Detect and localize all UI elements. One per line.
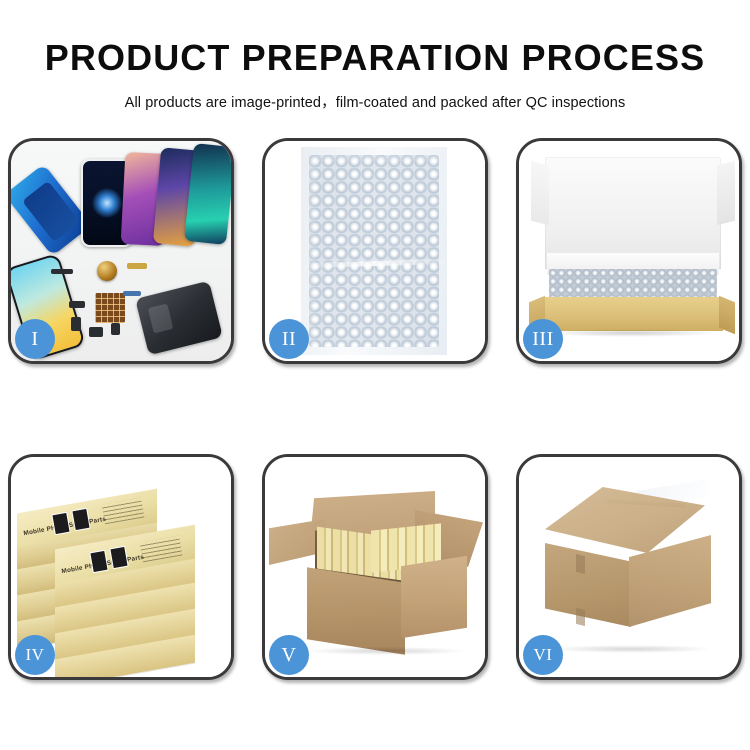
product-preparation-page: PRODUCT PREPARATION PROCESS All products… <box>0 0 750 750</box>
process-step-panel-5[interactable]: V <box>262 454 488 680</box>
retail-box-stack-photo: Mobile Phone Spare Parts Mobile Phone Sp… <box>11 457 231 677</box>
carton-seam-icon <box>576 554 585 574</box>
carton-side-panel-icon <box>401 556 467 638</box>
bubble-wrap-photo: II <box>265 141 485 361</box>
process-step-grid: I II III <box>8 138 742 680</box>
process-step-panel-3[interactable]: III <box>516 138 742 364</box>
flex-cable-icon <box>127 263 147 269</box>
process-step-panel-6[interactable]: VI <box>516 454 742 680</box>
kraft-tray-icon <box>541 297 723 331</box>
bubble-wrapped-item-icon <box>549 269 717 299</box>
box-screen-thumb-icon <box>109 546 128 569</box>
page-title: PRODUCT PREPARATION PROCESS <box>0 38 750 78</box>
bubble-wrap-overlay-icon <box>315 161 439 347</box>
process-step-panel-2[interactable]: II <box>262 138 488 364</box>
connector-part-icon <box>51 269 73 274</box>
speaker-part-icon <box>89 327 103 337</box>
carton-seam-icon <box>576 608 585 626</box>
open-carton-photo: V <box>265 457 485 677</box>
camera-part-icon <box>111 323 120 335</box>
box-screen-thumb-icon <box>89 550 108 573</box>
bracket-part-icon <box>69 301 85 308</box>
back-cover-icon <box>135 281 223 356</box>
chip-grid-icon <box>95 293 125 323</box>
flex-cable-blue-icon <box>123 291 141 296</box>
process-step-panel-1[interactable]: I <box>8 138 234 364</box>
carton-shadow-icon <box>551 645 711 653</box>
carton-shadow-icon <box>307 647 465 655</box>
step-badge-4: IV <box>15 635 55 675</box>
carton-front-panel-icon <box>545 543 631 627</box>
box-screen-thumb-icon <box>71 508 90 531</box>
step-badge-1: I <box>15 319 55 359</box>
step-badge-2: II <box>269 319 309 359</box>
step-badge-3: III <box>523 319 563 359</box>
copper-coil-icon <box>97 261 117 281</box>
sealed-carton-photo: VI <box>519 457 739 677</box>
step-badge-6: VI <box>523 635 563 675</box>
carton-front-panel-icon <box>307 567 405 655</box>
box-shadow-icon <box>543 329 719 337</box>
phone-parts-photo: I <box>11 141 231 361</box>
process-step-panel-4[interactable]: Mobile Phone Spare Parts Mobile Phone Sp… <box>8 454 234 680</box>
page-subtitle: All products are image-printed，film-coat… <box>0 91 750 112</box>
screw-part-icon <box>71 317 81 331</box>
inner-box-photo: III <box>519 141 739 361</box>
page-header: PRODUCT PREPARATION PROCESS All products… <box>0 0 750 112</box>
step-badge-5: V <box>269 635 309 675</box>
box-screen-thumb-icon <box>51 512 70 535</box>
blue-adhesive-screen-icon <box>11 164 92 256</box>
